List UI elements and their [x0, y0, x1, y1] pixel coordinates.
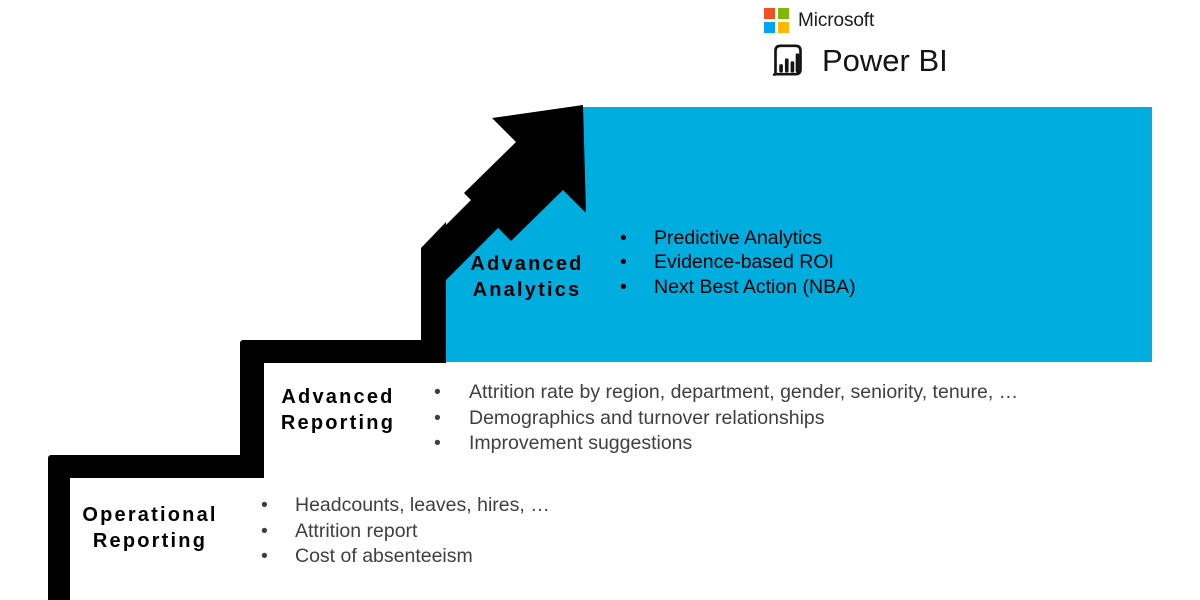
power-bi-wordmark: Power BI — [822, 45, 948, 76]
tier-bullets-advanced-analytics: • Predictive Analytics • Evidence-based … — [620, 226, 856, 299]
bullet-marker-icon: • — [434, 380, 469, 406]
bullet-marker-icon: • — [434, 406, 469, 432]
power-bi-lockup: Power BI — [768, 40, 948, 80]
microsoft-power-bi-branding: Microsoft Power BI — [760, 4, 1060, 86]
list-item: • Next Best Action (NBA) — [620, 275, 856, 299]
list-item: • Attrition rate by region, department, … — [434, 380, 1018, 406]
list-item: • Evidence-based ROI — [620, 250, 856, 274]
list-item-label: Headcounts, leaves, hires, … — [295, 493, 550, 519]
bullet-marker-icon: • — [261, 519, 295, 545]
list-item: • Demographics and turnover relationship… — [434, 406, 1018, 432]
bullet-marker-icon: • — [620, 226, 654, 250]
list-item-label: Evidence-based ROI — [654, 250, 834, 274]
list-item: • Attrition report — [261, 519, 550, 545]
microsoft-wordmark: Microsoft — [798, 11, 874, 30]
bullet-marker-icon: • — [620, 250, 654, 274]
bullet-marker-icon: • — [261, 493, 295, 519]
list-item-label: Predictive Analytics — [654, 226, 822, 250]
logo-square-top-left — [764, 8, 775, 19]
bullet-marker-icon: • — [620, 275, 654, 299]
bullet-marker-icon: • — [434, 431, 469, 457]
logo-square-bottom-right — [778, 22, 789, 33]
tier-bullets-advanced-reporting: • Attrition rate by region, department, … — [434, 380, 1018, 457]
list-item: • Improvement suggestions — [434, 431, 1018, 457]
slide-canvas: Microsoft Power BI Advanced Analytics • … — [0, 0, 1200, 600]
list-item-label: Improvement suggestions — [469, 431, 692, 457]
microsoft-four-squares-icon — [764, 8, 789, 33]
logo-square-top-right — [778, 8, 789, 19]
microsoft-lockup: Microsoft — [764, 8, 874, 33]
power-bi-bar-chart-icon — [768, 40, 808, 80]
logo-square-bottom-left — [764, 22, 775, 33]
tier-heading-operational-reporting: Operational Reporting — [64, 503, 236, 554]
list-item-label: Cost of absenteeism — [295, 544, 473, 570]
tier-heading-advanced-analytics: Advanced Analytics — [452, 252, 602, 303]
list-item-label: Next Best Action (NBA) — [654, 275, 856, 299]
list-item: • Cost of absenteeism — [261, 544, 550, 570]
list-item: • Headcounts, leaves, hires, … — [261, 493, 550, 519]
list-item-label: Attrition report — [295, 519, 417, 545]
tier-bullets-operational-reporting: • Headcounts, leaves, hires, … • Attriti… — [261, 493, 550, 570]
list-item-label: Demographics and turnover relationships — [469, 406, 825, 432]
bullet-marker-icon: • — [261, 544, 295, 570]
list-item-label: Attrition rate by region, department, ge… — [469, 380, 1018, 406]
list-item: • Predictive Analytics — [620, 226, 856, 250]
tier-heading-advanced-reporting: Advanced Reporting — [262, 385, 414, 436]
